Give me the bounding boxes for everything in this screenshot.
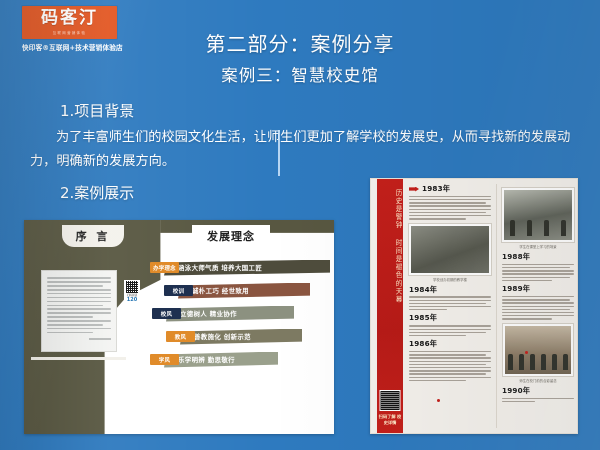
timeline-paragraph [409,296,491,310]
arrow-right-icon [409,187,419,192]
concept-bar-text: 乐学明辨 勤思敬行 [164,352,278,368]
left-exhibit-image[interactable]: 序 言 发展理念 扫码阅读 120 涵泳大师气质 培养大国工匠 办学理念 诚朴工 [24,220,334,434]
history-qr-code-icon[interactable] [380,390,401,411]
timeline-photo [409,224,491,275]
timeline-year-label: 1984年 [409,285,491,295]
concept-bar-text: 善教施化 创新示范 [180,329,302,345]
timeline-year-entry: 1983年 [409,184,491,194]
timeline-paragraph [502,398,574,402]
slide-title-main: 第二部分：案例分享 [0,28,600,57]
timeline-marker-dot [437,399,440,402]
text-cursor [278,130,280,176]
concept-bar-chip: 校风 [152,308,181,319]
history-banner-text: 历史是警钟 时间是褪色的天幕 [377,189,403,309]
concept-bar-chip: 教风 [166,331,195,342]
timeline-paragraph [502,264,574,281]
timeline-year-label: 1986年 [409,339,491,349]
slide-title-sub: 案例三：智慧校史馆 [0,62,600,86]
history-banner: 历史是警钟 时间是褪色的天幕 扫码了解 校史详情 [377,179,403,433]
timeline-photo-caption: 学校创办初期的教学楼 [409,277,491,282]
timeline-year-label: 1985年 [409,313,491,323]
timeline-year-label: 1989年 [502,284,574,294]
timeline-photo [502,188,574,242]
concept-bar: 诚朴工巧 经世致用 校训 [146,281,332,300]
concept-bar-list: 涵泳大师气质 培养大国工匠 办学理念 诚朴工巧 经世致用 校训 立德树人 精业协… [146,258,332,373]
timeline-marker-dot [525,351,528,354]
timeline-column-left: 1983年 学校创办初期的教学楼 1984年 1985年 [409,184,491,428]
concept-bar-text: 诚朴工巧 经世致用 [178,283,310,299]
concept-bar-chip: 校训 [164,285,193,296]
timeline-photo-caption: 学生在课堂上学习的场景 [502,244,574,249]
timeline-columns: 1983年 学校创办初期的教学楼 1984年 1985年 [409,184,572,428]
concept-bar: 乐学明辨 勤思敬行 学风 [146,350,332,369]
exhibit-tab-preface-label: 序 言 [76,228,111,244]
preface-shelf [31,357,126,360]
concept-bar-text: 涵泳大师气质 培养大国工匠 [164,260,330,276]
timeline-paragraph [409,325,491,336]
exhibit-wall-qr-plaque[interactable]: 扫码阅读 120 [124,280,140,308]
timeline-year-label: 1983年 [422,184,450,194]
timeline-paragraph [502,296,574,320]
body-paragraph: 为了丰富师生们的校园文化生活，让师生们更加了解学校的发展史，从而寻找新的发展动力… [30,126,582,174]
concept-bar: 立德树人 精业协作 校风 [146,304,332,323]
preface-document-card [41,270,117,352]
logo-brand-text: 码客汀 [41,10,98,27]
right-exhibit-image[interactable]: 历史是警钟 时间是褪色的天幕 扫码了解 校史详情 1983年 学校创办初期的教学… [370,178,578,434]
concept-bar-chip: 办学理念 [150,262,179,273]
timeline-year-label: 1988年 [502,252,574,262]
concept-bar: 善教施化 创新示范 教风 [146,327,332,346]
timeline-photo-caption: 师生在校门前的合影留念 [502,378,574,383]
exhibit-tab-preface: 序 言 [62,225,124,247]
presentation-slide: 码客汀 互联网营销体验 快印客®互联网+技术营销体验店 第二部分：案例分享 案例… [0,0,600,450]
concept-bar: 涵泳大师气质 培养大国工匠 办学理念 [146,258,332,277]
timeline-paragraph [409,196,491,220]
concept-bar-chip: 学风 [150,354,179,365]
concept-bar-text: 立德树人 精业协作 [166,306,294,322]
history-qr-caption: 扫码了解 校史详情 [377,414,403,425]
wall-qr-number: 120 [127,298,137,303]
section-heading-case-showcase: 2.案例展示 [60,182,134,203]
timeline-year-label: 1990年 [502,386,574,396]
qr-code-icon [126,281,138,293]
exhibit-tab-concept: 发展理念 [192,225,270,247]
timeline-photo [503,324,573,376]
timeline-column-right: 学生在课堂上学习的场景 1988年 1989年 师生在校门前的合影留念 1990… [496,184,574,428]
exhibit-tab-concept-label: 发展理念 [207,228,255,244]
section-heading-project-background: 1.项目背景 [60,100,134,121]
timeline-paragraph [409,351,491,381]
